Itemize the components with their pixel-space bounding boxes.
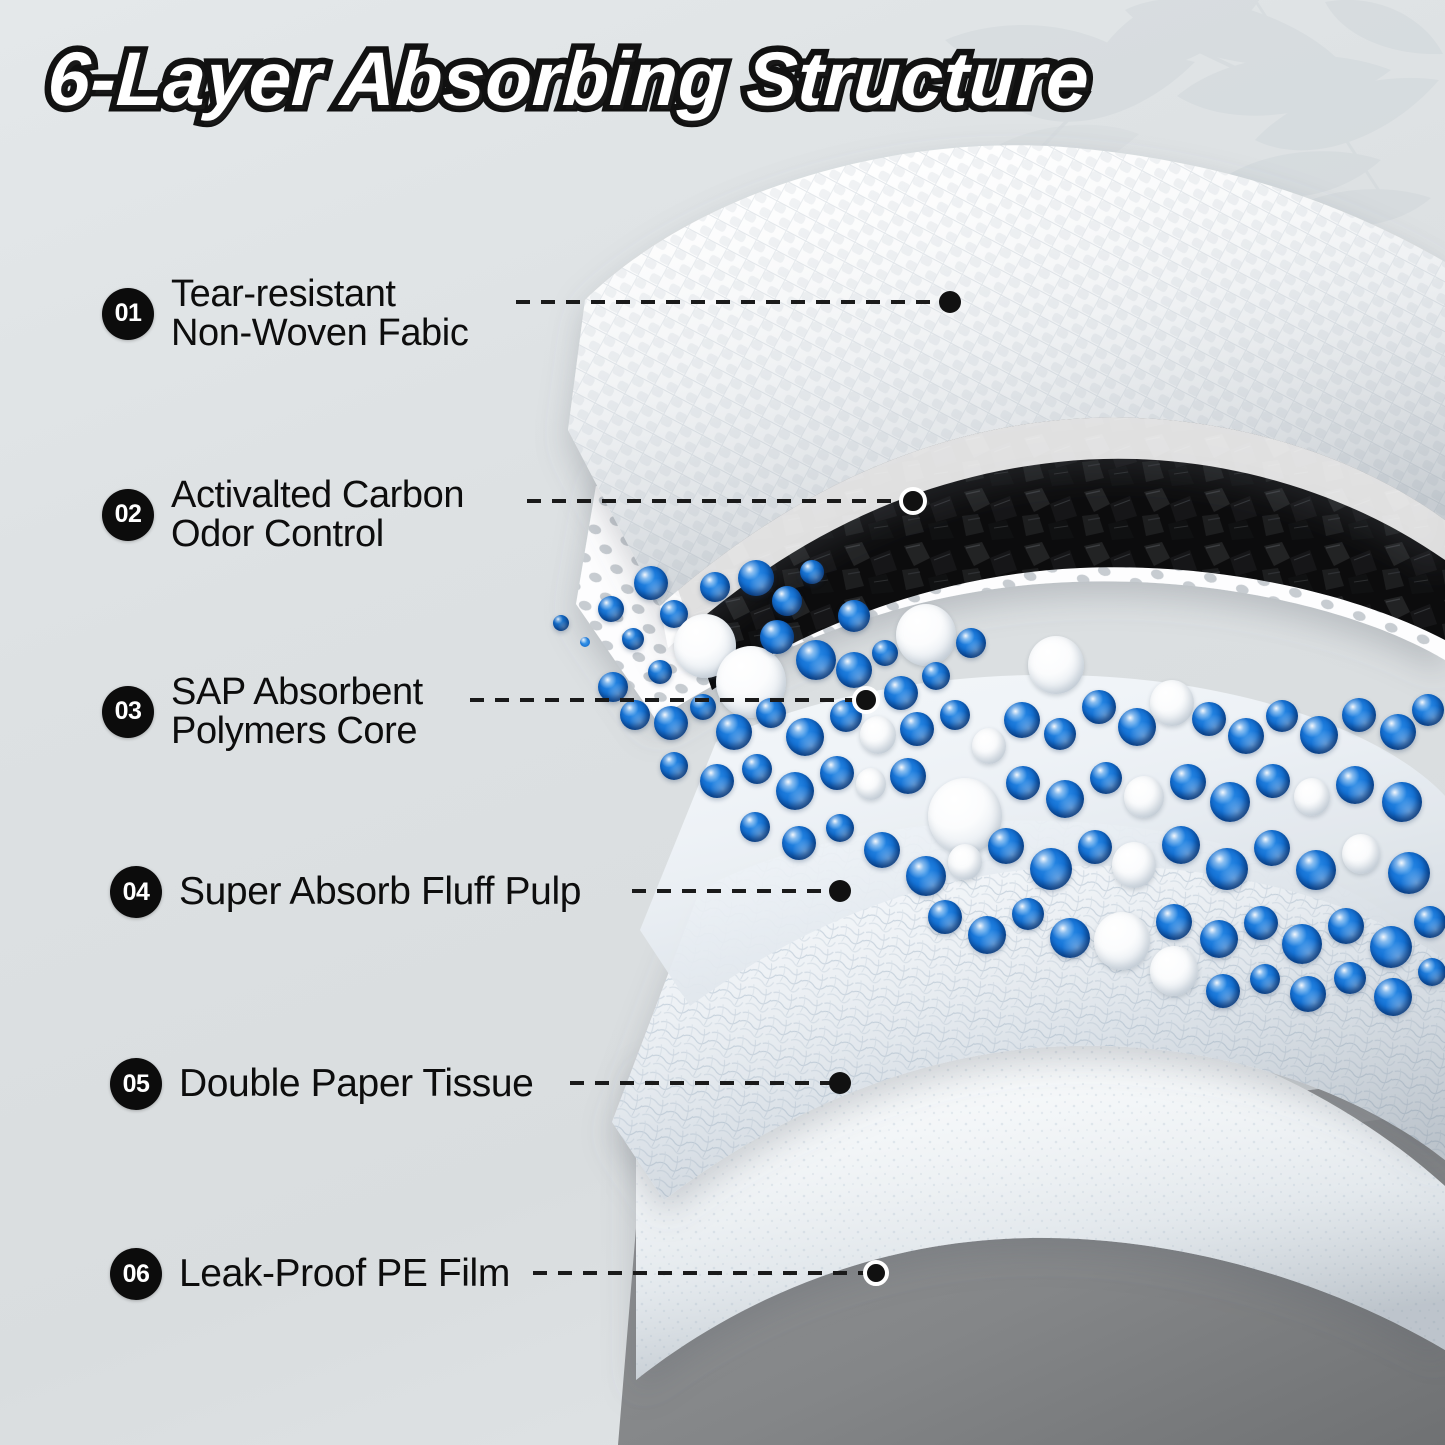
layer-label-02[interactable]: 02 Activalted Carbon Odor Control: [102, 476, 464, 554]
layer-label-text-04: Super Absorb Fluff Pulp: [179, 872, 581, 912]
layer-label-text-06: Leak-Proof PE Film: [179, 1254, 510, 1294]
layer-label-text-02: Activalted Carbon Odor Control: [171, 476, 464, 554]
layer-label-03[interactable]: 03 SAP Absorbent Polymers Core: [102, 673, 423, 751]
layer-label-text-05: Double Paper Tissue: [179, 1064, 533, 1104]
layer-label-list: 01 Tear-resistant Non-Woven Fabic 02 Act…: [0, 0, 1445, 1445]
layer-badge-06: 06: [110, 1248, 162, 1300]
page-title: 6-Layer Absorbing Structure: [46, 36, 1092, 123]
layer-label-05[interactable]: 05 Double Paper Tissue: [110, 1058, 533, 1110]
layer-badge-04: 04: [110, 866, 162, 918]
layer-label-06[interactable]: 06 Leak-Proof PE Film: [110, 1248, 510, 1300]
layer-badge-02: 02: [102, 489, 154, 541]
layer-label-01[interactable]: 01 Tear-resistant Non-Woven Fabic: [102, 275, 468, 353]
product-layer-infographic: 6-Layer Absorbing Structure 01 Tear-resi…: [0, 0, 1445, 1445]
layer-label-text-03: SAP Absorbent Polymers Core: [171, 673, 423, 751]
layer-badge-01: 01: [102, 288, 154, 340]
layer-label-04[interactable]: 04 Super Absorb Fluff Pulp: [110, 866, 581, 918]
layer-badge-03: 03: [102, 686, 154, 738]
layer-badge-05: 05: [110, 1058, 162, 1110]
layer-label-text-01: Tear-resistant Non-Woven Fabic: [171, 275, 468, 353]
